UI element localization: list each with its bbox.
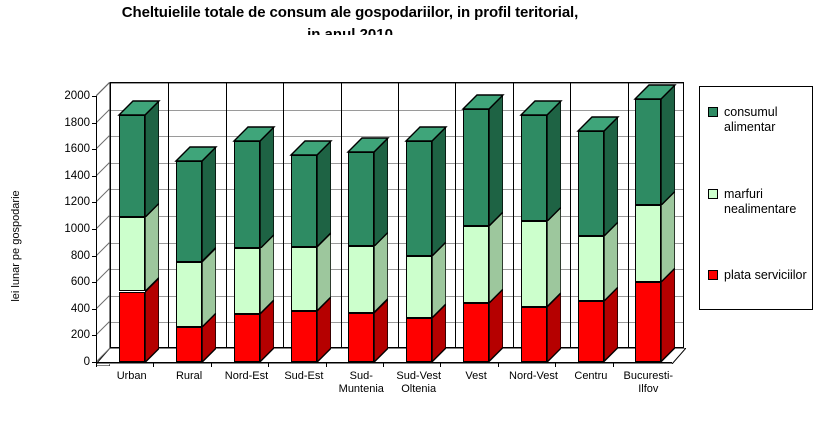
bar-segment-consumul-alimentar	[176, 161, 202, 261]
bar-top-face	[635, 85, 661, 99]
grid-line-vertical	[226, 83, 227, 347]
axis-depth-line	[96, 321, 110, 335]
bar-segment-marfuri-nealimentare	[521, 221, 547, 307]
bar-segment-marfuri-nealimentare	[119, 217, 145, 291]
bar-segment-marfuri-nealimentare	[234, 248, 260, 314]
y-axis-line	[96, 96, 97, 363]
bar-segment-consumul-alimentar	[521, 115, 547, 221]
bar-segment-consumul-alimentar	[291, 155, 317, 247]
legend-swatch-icon	[708, 189, 718, 199]
bar-segment-marfuri-nealimentare	[348, 246, 374, 313]
y-tick-label: 1600	[44, 144, 90, 154]
bar-segment-consumul-alimentar	[234, 141, 260, 249]
grid-line-vertical	[455, 83, 456, 347]
bar-segment-plata-serviciilor	[406, 318, 432, 362]
x-tick-mark	[613, 362, 614, 367]
bar-nord-est[interactable]	[234, 0, 260, 434]
y-tick-label: 1400	[44, 171, 90, 181]
bar-nord-vest[interactable]	[521, 0, 547, 434]
grid-line-vertical	[398, 83, 399, 347]
legend-swatch-icon	[708, 107, 718, 117]
bar-segment-marfuri-nealimentare	[635, 205, 661, 282]
y-tick-label: 1200	[44, 197, 90, 207]
grid-line-vertical	[570, 83, 571, 347]
bar-sud--muntenia[interactable]	[348, 0, 374, 434]
y-tick-label: 200	[44, 330, 90, 340]
bar-segment-plata-serviciilor	[291, 311, 317, 362]
bar-top-face	[578, 117, 604, 131]
bar-segment-side	[547, 101, 561, 207]
x-tick-mark	[498, 362, 499, 367]
chart-page: Cheltuielile totale de consum ale gospod…	[0, 0, 821, 434]
bar-segment-consumul-alimentar	[348, 152, 374, 246]
y-tick-label: 1800	[44, 118, 90, 128]
axis-depth-line	[96, 162, 110, 176]
x-tick-mark	[96, 362, 97, 367]
legend-label: marfuri nealimentare	[724, 187, 816, 216]
grid-line-vertical	[283, 83, 284, 347]
bar-segment-plata-serviciilor	[578, 301, 604, 362]
bar-top-face	[348, 138, 374, 152]
bar-segment-side	[374, 138, 388, 232]
axis-depth-line	[96, 82, 110, 96]
bar-sud-est[interactable]	[291, 0, 317, 434]
grid-line-vertical	[628, 83, 629, 347]
bar-vest[interactable]	[463, 0, 489, 434]
axis-depth-line	[96, 188, 110, 202]
axis-depth-line	[96, 295, 110, 309]
bar-segment-plata-serviciilor	[635, 282, 661, 362]
x-tick-mark	[268, 362, 269, 367]
x-tick-mark	[383, 362, 384, 367]
grid-line-vertical	[168, 83, 169, 347]
x-tick-mark	[211, 362, 212, 367]
bar-segment-plata-serviciilor	[463, 303, 489, 362]
bar-segment-plata-serviciilor	[348, 313, 374, 362]
y-tick-label: 0	[44, 357, 90, 367]
grid-line-vertical	[513, 83, 514, 347]
bar-segment-side	[661, 85, 675, 191]
bar-urban[interactable]	[119, 0, 145, 434]
axis-depth-line	[96, 215, 110, 229]
bar-centru[interactable]	[578, 0, 604, 434]
x-tick-mark	[440, 362, 441, 367]
y-tick-label: 400	[44, 304, 90, 314]
x-tick-mark	[555, 362, 556, 367]
bar-segment-side	[202, 147, 216, 247]
axis-depth-line	[96, 348, 110, 362]
bar-segment-side	[432, 127, 446, 242]
bar-segment-marfuri-nealimentare	[291, 247, 317, 311]
bar-top-face	[119, 101, 145, 115]
bar-sud-vest-oltenia[interactable]	[406, 0, 432, 434]
bar-top-face	[234, 127, 260, 141]
bar-segment-marfuri-nealimentare	[578, 236, 604, 301]
chart-legend: consumul alimentar marfuri nealimentare …	[699, 86, 813, 310]
legend-swatch-icon	[708, 270, 718, 280]
bar-segment-consumul-alimentar	[635, 99, 661, 205]
bar-segment-side	[604, 117, 618, 222]
bar-segment-consumul-alimentar	[119, 115, 145, 217]
legend-label: consumul alimentar	[724, 105, 816, 134]
y-tick-label: 2000	[44, 91, 90, 101]
bar-segment-consumul-alimentar	[463, 109, 489, 226]
plot-area: 0200400600800100012001400160018002000 Ur…	[0, 0, 700, 434]
bar-segment-consumul-alimentar	[406, 141, 432, 256]
axis-depth-line	[96, 242, 110, 256]
bar-top-face	[176, 147, 202, 161]
y-tick-label: 800	[44, 251, 90, 261]
bar-bucuresti--ilfov[interactable]	[635, 0, 661, 434]
bar-top-face	[406, 127, 432, 141]
bar-segment-side	[260, 127, 274, 235]
bar-top-face	[291, 141, 317, 155]
y-tick-label: 600	[44, 277, 90, 287]
bar-rural[interactable]	[176, 0, 202, 434]
bar-segment-side	[489, 95, 503, 212]
x-tick-mark	[153, 362, 154, 367]
axis-depth-line	[96, 268, 110, 282]
bar-segment-plata-serviciilor	[521, 307, 547, 362]
bar-segment-marfuri-nealimentare	[406, 256, 432, 318]
x-tick-label: Bucuresti-Ilfov	[609, 370, 687, 396]
bar-top-face	[463, 95, 489, 109]
legend-label: plata serviciilor	[724, 268, 816, 283]
axis-depth-line	[96, 135, 110, 149]
x-tick-mark	[326, 362, 327, 367]
bar-segment-marfuri-nealimentare	[463, 226, 489, 303]
y-tick-label: 1000	[44, 224, 90, 234]
bar-segment-marfuri-nealimentare	[176, 262, 202, 327]
axis-depth-line	[96, 109, 110, 123]
bar-segment-plata-serviciilor	[176, 327, 202, 362]
bar-top-face	[521, 101, 547, 115]
bar-segment-plata-serviciilor	[119, 292, 145, 362]
bar-segment-consumul-alimentar	[578, 131, 604, 236]
grid-line-vertical	[341, 83, 342, 347]
bar-segment-plata-serviciilor	[234, 314, 260, 362]
bar-segment-side	[145, 101, 159, 203]
